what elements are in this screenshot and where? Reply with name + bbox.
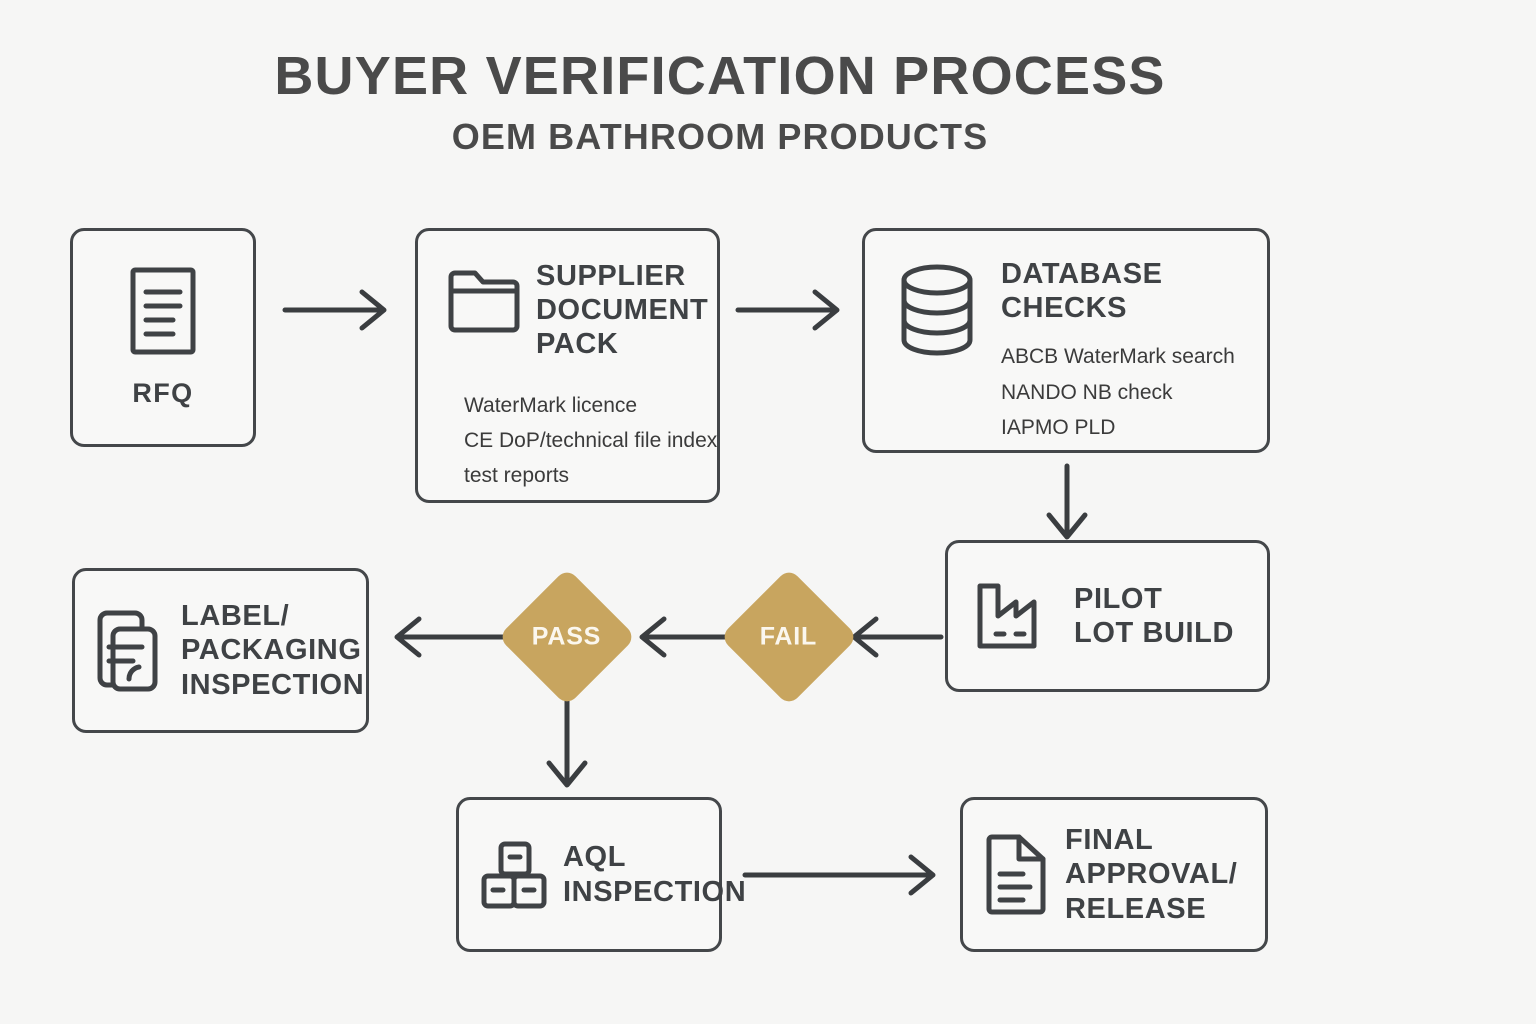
page-title: BUYER VERIFICATION PROCESS <box>0 48 1440 105</box>
node-label-packaging-inspection-texts: LABEL/ PACKAGING INSPECTION <box>181 599 352 702</box>
node-rfq[interactable]: RFQ <box>70 228 256 447</box>
decision-fail-label: FAIL <box>760 623 817 652</box>
connector-fail-to-pass <box>642 619 726 655</box>
node-database-checks-details: ABCB WaterMark search NANDO NB check IAP… <box>1001 339 1249 445</box>
node-supplier-document-pack[interactable]: SUPPLIER DOCUMENT PACK WaterMark licence… <box>415 228 720 503</box>
node-rfq-title: RFQ <box>132 378 193 410</box>
connector-pass-to-label-packaging-inspection <box>397 619 509 655</box>
diagram-canvas: BUYER VERIFICATION PROCESS OEM BATHROOM … <box>0 0 1536 1024</box>
node-aql-inspection-texts: AQL INSPECTION <box>563 840 707 908</box>
connector-pilot-lot-build-to-fail <box>854 619 941 655</box>
connector-database-checks-to-pilot-lot-build <box>1049 466 1085 537</box>
node-database-checks-title: DATABASE CHECKS <box>1001 257 1249 325</box>
detail-line: ABCB WaterMark search <box>1001 339 1249 374</box>
label-tag-icon <box>95 607 167 695</box>
page-subtitle: OEM BATHROOM PRODUCTS <box>0 118 1440 156</box>
database-cylinder-icon <box>895 263 979 357</box>
node-aql-inspection[interactable]: AQL INSPECTION <box>456 797 722 952</box>
boxes-stack-icon <box>477 838 551 912</box>
node-pilot-lot-build-texts: PILOT LOT BUILD <box>1074 582 1249 650</box>
decision-pass-label: PASS <box>532 623 601 652</box>
node-supplier-document-pack-details: WaterMark licence CE DoP/technical file … <box>464 388 699 494</box>
node-final-approval-release[interactable]: FINAL APPROVAL/ RELEASE <box>960 797 1268 952</box>
connector-pass-to-aql-inspection <box>549 700 585 785</box>
node-final-approval-release-texts: FINAL APPROVAL/ RELEASE <box>1065 823 1251 926</box>
detail-line: CE DoP/technical file index <box>464 423 699 458</box>
node-pilot-lot-build-title: PILOT LOT BUILD <box>1074 582 1249 650</box>
decision-fail[interactable]: FAIL <box>720 568 859 707</box>
node-database-checks-texts: DATABASE CHECKS ABCB WaterMark search NA… <box>1001 257 1249 445</box>
folder-icon <box>446 263 522 333</box>
node-label-packaging-inspection[interactable]: LABEL/ PACKAGING INSPECTION <box>72 568 369 733</box>
node-database-checks[interactable]: DATABASE CHECKS ABCB WaterMark search NA… <box>862 228 1270 453</box>
detail-line: WaterMark licence <box>464 388 699 423</box>
connector-aql-inspection-to-final-approval-release <box>745 857 933 893</box>
detail-line: IAPMO PLD <box>1001 410 1249 445</box>
decision-pass[interactable]: PASS <box>498 568 637 707</box>
connector-rfq-to-supplier-document-pack <box>285 292 384 328</box>
node-aql-inspection-title: AQL INSPECTION <box>563 840 707 908</box>
connector-supplier-document-pack-to-database-checks <box>738 292 837 328</box>
node-rfq-texts: RFQ <box>132 356 193 410</box>
node-label-packaging-inspection-title: LABEL/ PACKAGING INSPECTION <box>181 599 352 702</box>
document-lines-icon <box>129 266 197 356</box>
node-pilot-lot-build[interactable]: PILOT LOT BUILD <box>945 540 1270 692</box>
node-final-approval-release-title: FINAL APPROVAL/ RELEASE <box>1065 823 1251 926</box>
factory-icon <box>974 580 1052 652</box>
detail-line: test reports <box>464 458 699 493</box>
detail-line: NANDO NB check <box>1001 375 1249 410</box>
node-supplier-document-pack-texts: SUPPLIER DOCUMENT PACK WaterMark licence… <box>536 259 699 493</box>
node-supplier-document-pack-title: SUPPLIER DOCUMENT PACK <box>536 259 699 362</box>
document-folded-corner-icon <box>983 832 1049 918</box>
